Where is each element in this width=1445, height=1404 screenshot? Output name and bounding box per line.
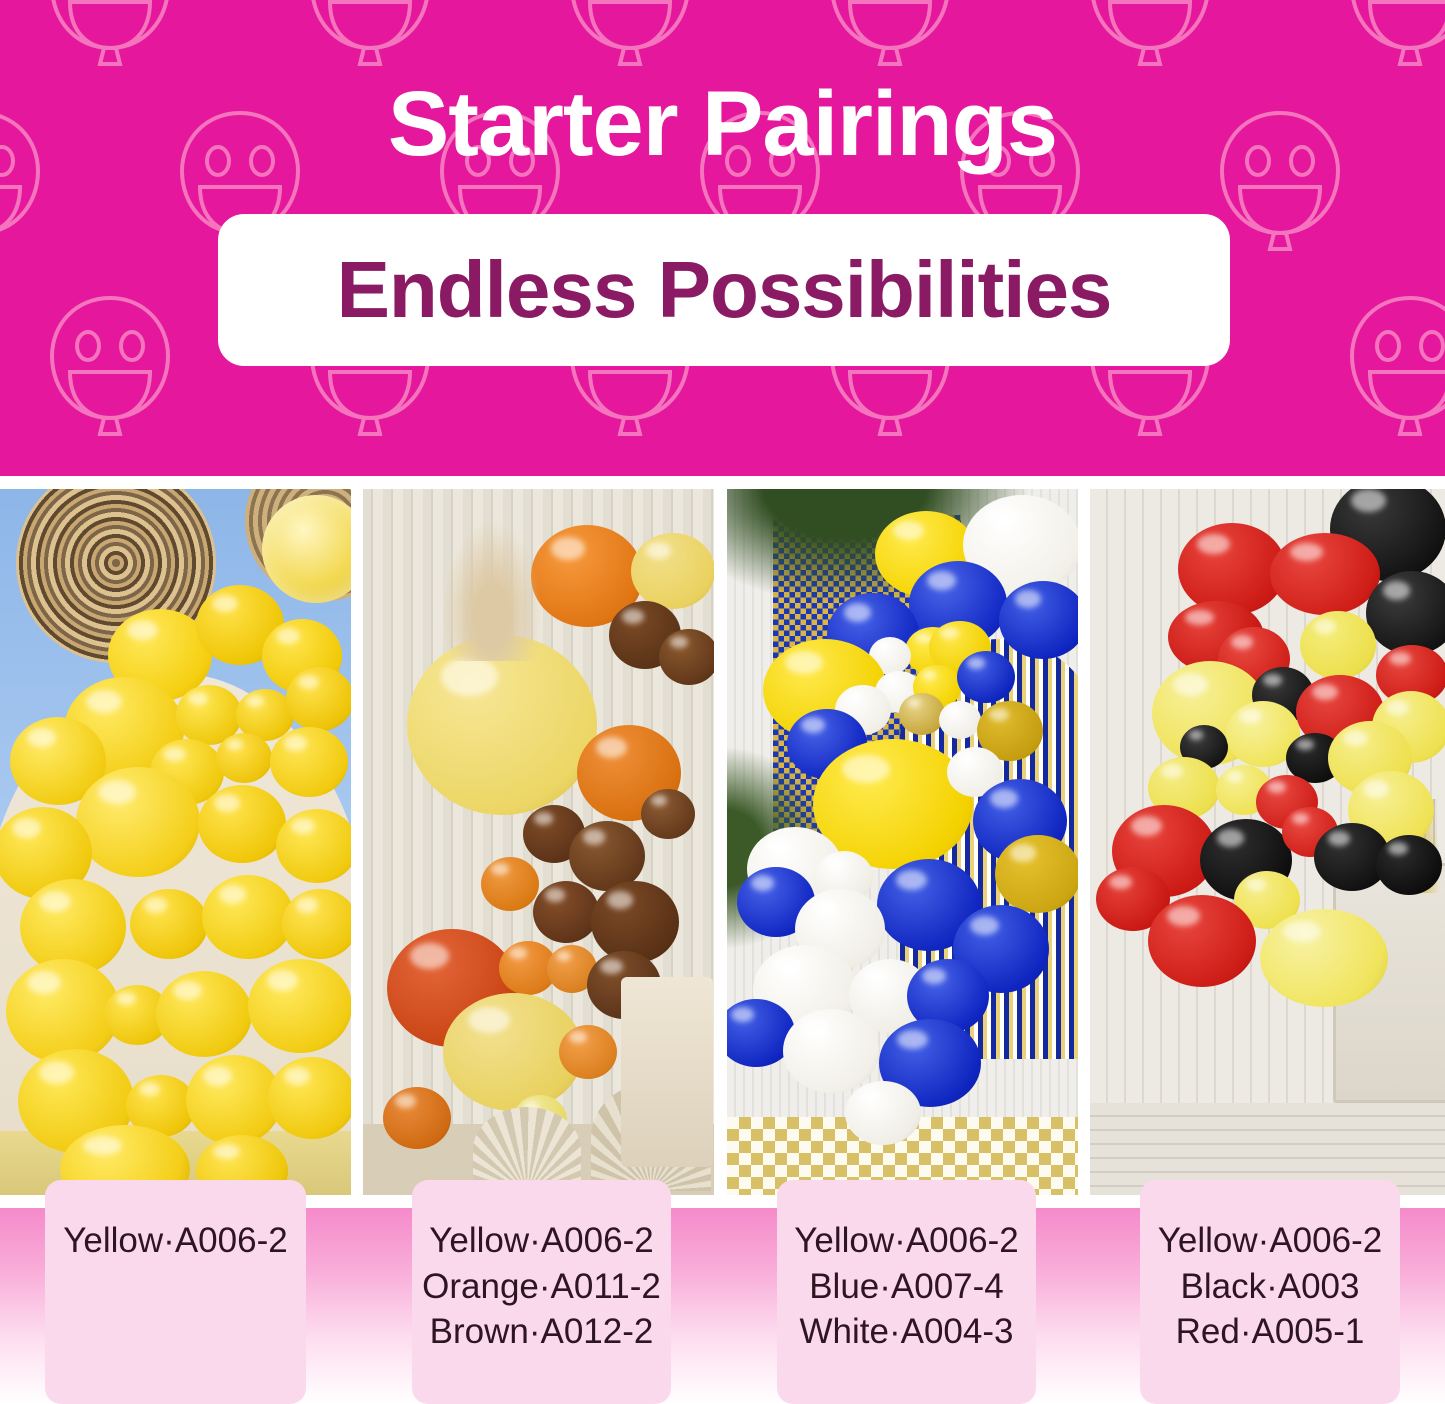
pairing-line: Blue·A007-4	[809, 1264, 1004, 1310]
pairing-line: Red·A005-1	[1176, 1309, 1365, 1355]
pairing-line: Orange·A011-2	[422, 1264, 661, 1310]
page-title: Starter Pairings	[0, 76, 1445, 173]
pairing-line: Brown·A012-2	[430, 1309, 654, 1355]
pairing-card-3[interactable]: Yellow·A006-2 Blue·A007-4 White·A004-3	[777, 1180, 1036, 1404]
header-banner: Starter Pairings Endless Possibilities	[0, 0, 1445, 476]
gallery-image-mickey-garland[interactable]	[1090, 489, 1445, 1195]
gallery-image-autumn-garland[interactable]	[363, 489, 714, 1195]
pairing-card-1[interactable]: Yellow·A006-2	[45, 1180, 306, 1404]
pairing-line: Yellow·A006-2	[63, 1218, 287, 1264]
pairing-line: Yellow·A006-2	[794, 1218, 1018, 1264]
pairing-line: Yellow·A006-2	[429, 1218, 653, 1264]
pairing-cards: Yellow·A006-2 Yellow·A006-2 Orange·A011-…	[0, 1180, 1445, 1404]
gallery-image-blue-yellow-white-garland[interactable]	[727, 489, 1078, 1195]
gallery-image-yellow-garland[interactable]	[0, 489, 351, 1195]
pairing-line: Black·A003	[1181, 1264, 1360, 1310]
pairing-card-2[interactable]: Yellow·A006-2 Orange·A011-2 Brown·A012-2	[412, 1180, 671, 1404]
headline-badge-text: Endless Possibilities	[337, 250, 1112, 330]
pairing-line: Yellow·A006-2	[1158, 1218, 1382, 1264]
pairing-card-4[interactable]: Yellow·A006-2 Black·A003 Red·A005-1	[1140, 1180, 1400, 1404]
headline-badge: Endless Possibilities	[218, 214, 1230, 366]
pairing-line: White·A004-3	[800, 1309, 1014, 1355]
gallery	[0, 489, 1445, 1195]
